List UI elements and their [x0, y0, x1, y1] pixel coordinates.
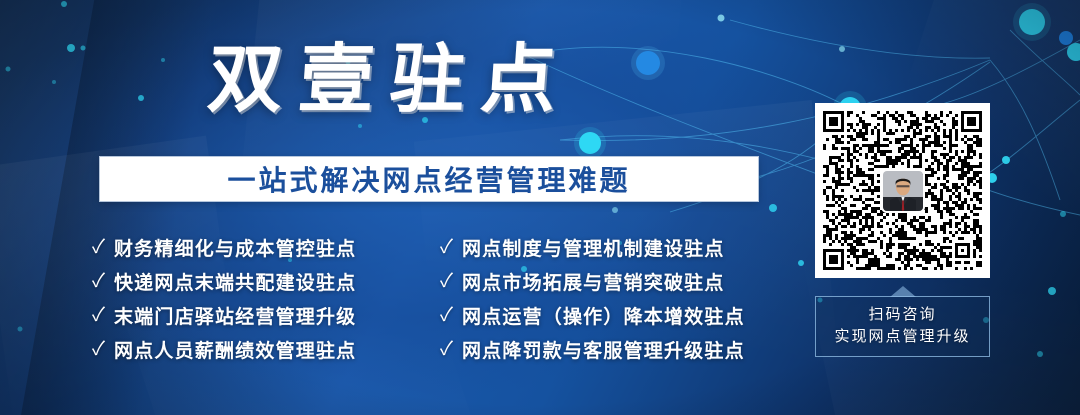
page-title: 双壹驻点 [205, 42, 574, 117]
subtitle-banner: 一站式解决网点经营管理难题 [100, 157, 758, 201]
check-icon: ✓ [440, 340, 453, 359]
subtitle-text: 一站式解决网点经营管理难题 [227, 159, 630, 199]
check-icon: ✓ [92, 238, 105, 257]
service-item-label: 网点降罚款与客服管理升级驻点 [462, 336, 745, 363]
service-item-label: 网点人员薪酬绩效管理驻点 [114, 336, 356, 363]
check-icon: ✓ [440, 272, 453, 291]
check-icon: ✓ [92, 306, 105, 325]
check-icon: ✓ [92, 272, 105, 291]
service-item: ✓网点降罚款与客服管理升级驻点 [440, 334, 782, 364]
service-item: ✓网点制度与管理机制建设驻点 [440, 232, 782, 262]
qr-caption-line1: 扫码咨询 [820, 304, 985, 326]
service-item-label: 网点制度与管理机制建设驻点 [462, 234, 725, 261]
service-item-label: 财务精细化与成本管控驻点 [114, 234, 356, 261]
service-item: ✓财务精细化与成本管控驻点 [92, 232, 434, 262]
service-item: ✓网点运营（操作）降本增效驻点 [440, 300, 782, 330]
qr-code-icon[interactable] [815, 103, 990, 278]
service-item-label: 末端门店驿站经营管理升级 [114, 302, 356, 329]
service-list: ✓财务精细化与成本管控驻点✓网点制度与管理机制建设驻点✓快递网点末端共配建设驻点… [92, 232, 782, 364]
service-item-label: 快递网点末端共配建设驻点 [114, 268, 356, 295]
service-item: ✓网点市场拓展与营销突破驻点 [440, 266, 782, 296]
service-item-label: 网点市场拓展与营销突破驻点 [462, 268, 725, 295]
check-icon: ✓ [92, 340, 105, 359]
check-icon: ✓ [440, 306, 453, 325]
qr-block: 扫码咨询 实现网点管理升级 [815, 103, 990, 357]
consultant-avatar-icon [883, 171, 923, 211]
service-item: ✓网点人员薪酬绩效管理驻点 [92, 334, 434, 364]
check-icon: ✓ [440, 238, 453, 257]
qr-caption-line2: 实现网点管理升级 [820, 326, 985, 348]
qr-caption-box: 扫码咨询 实现网点管理升级 [815, 296, 990, 357]
promo-banner: 双壹驻点 一站式解决网点经营管理难题 ✓财务精细化与成本管控驻点✓网点制度与管理… [0, 0, 1080, 415]
service-item: ✓快递网点末端共配建设驻点 [92, 266, 434, 296]
service-item-label: 网点运营（操作）降本增效驻点 [462, 302, 745, 329]
service-item: ✓末端门店驿站经营管理升级 [92, 300, 434, 330]
